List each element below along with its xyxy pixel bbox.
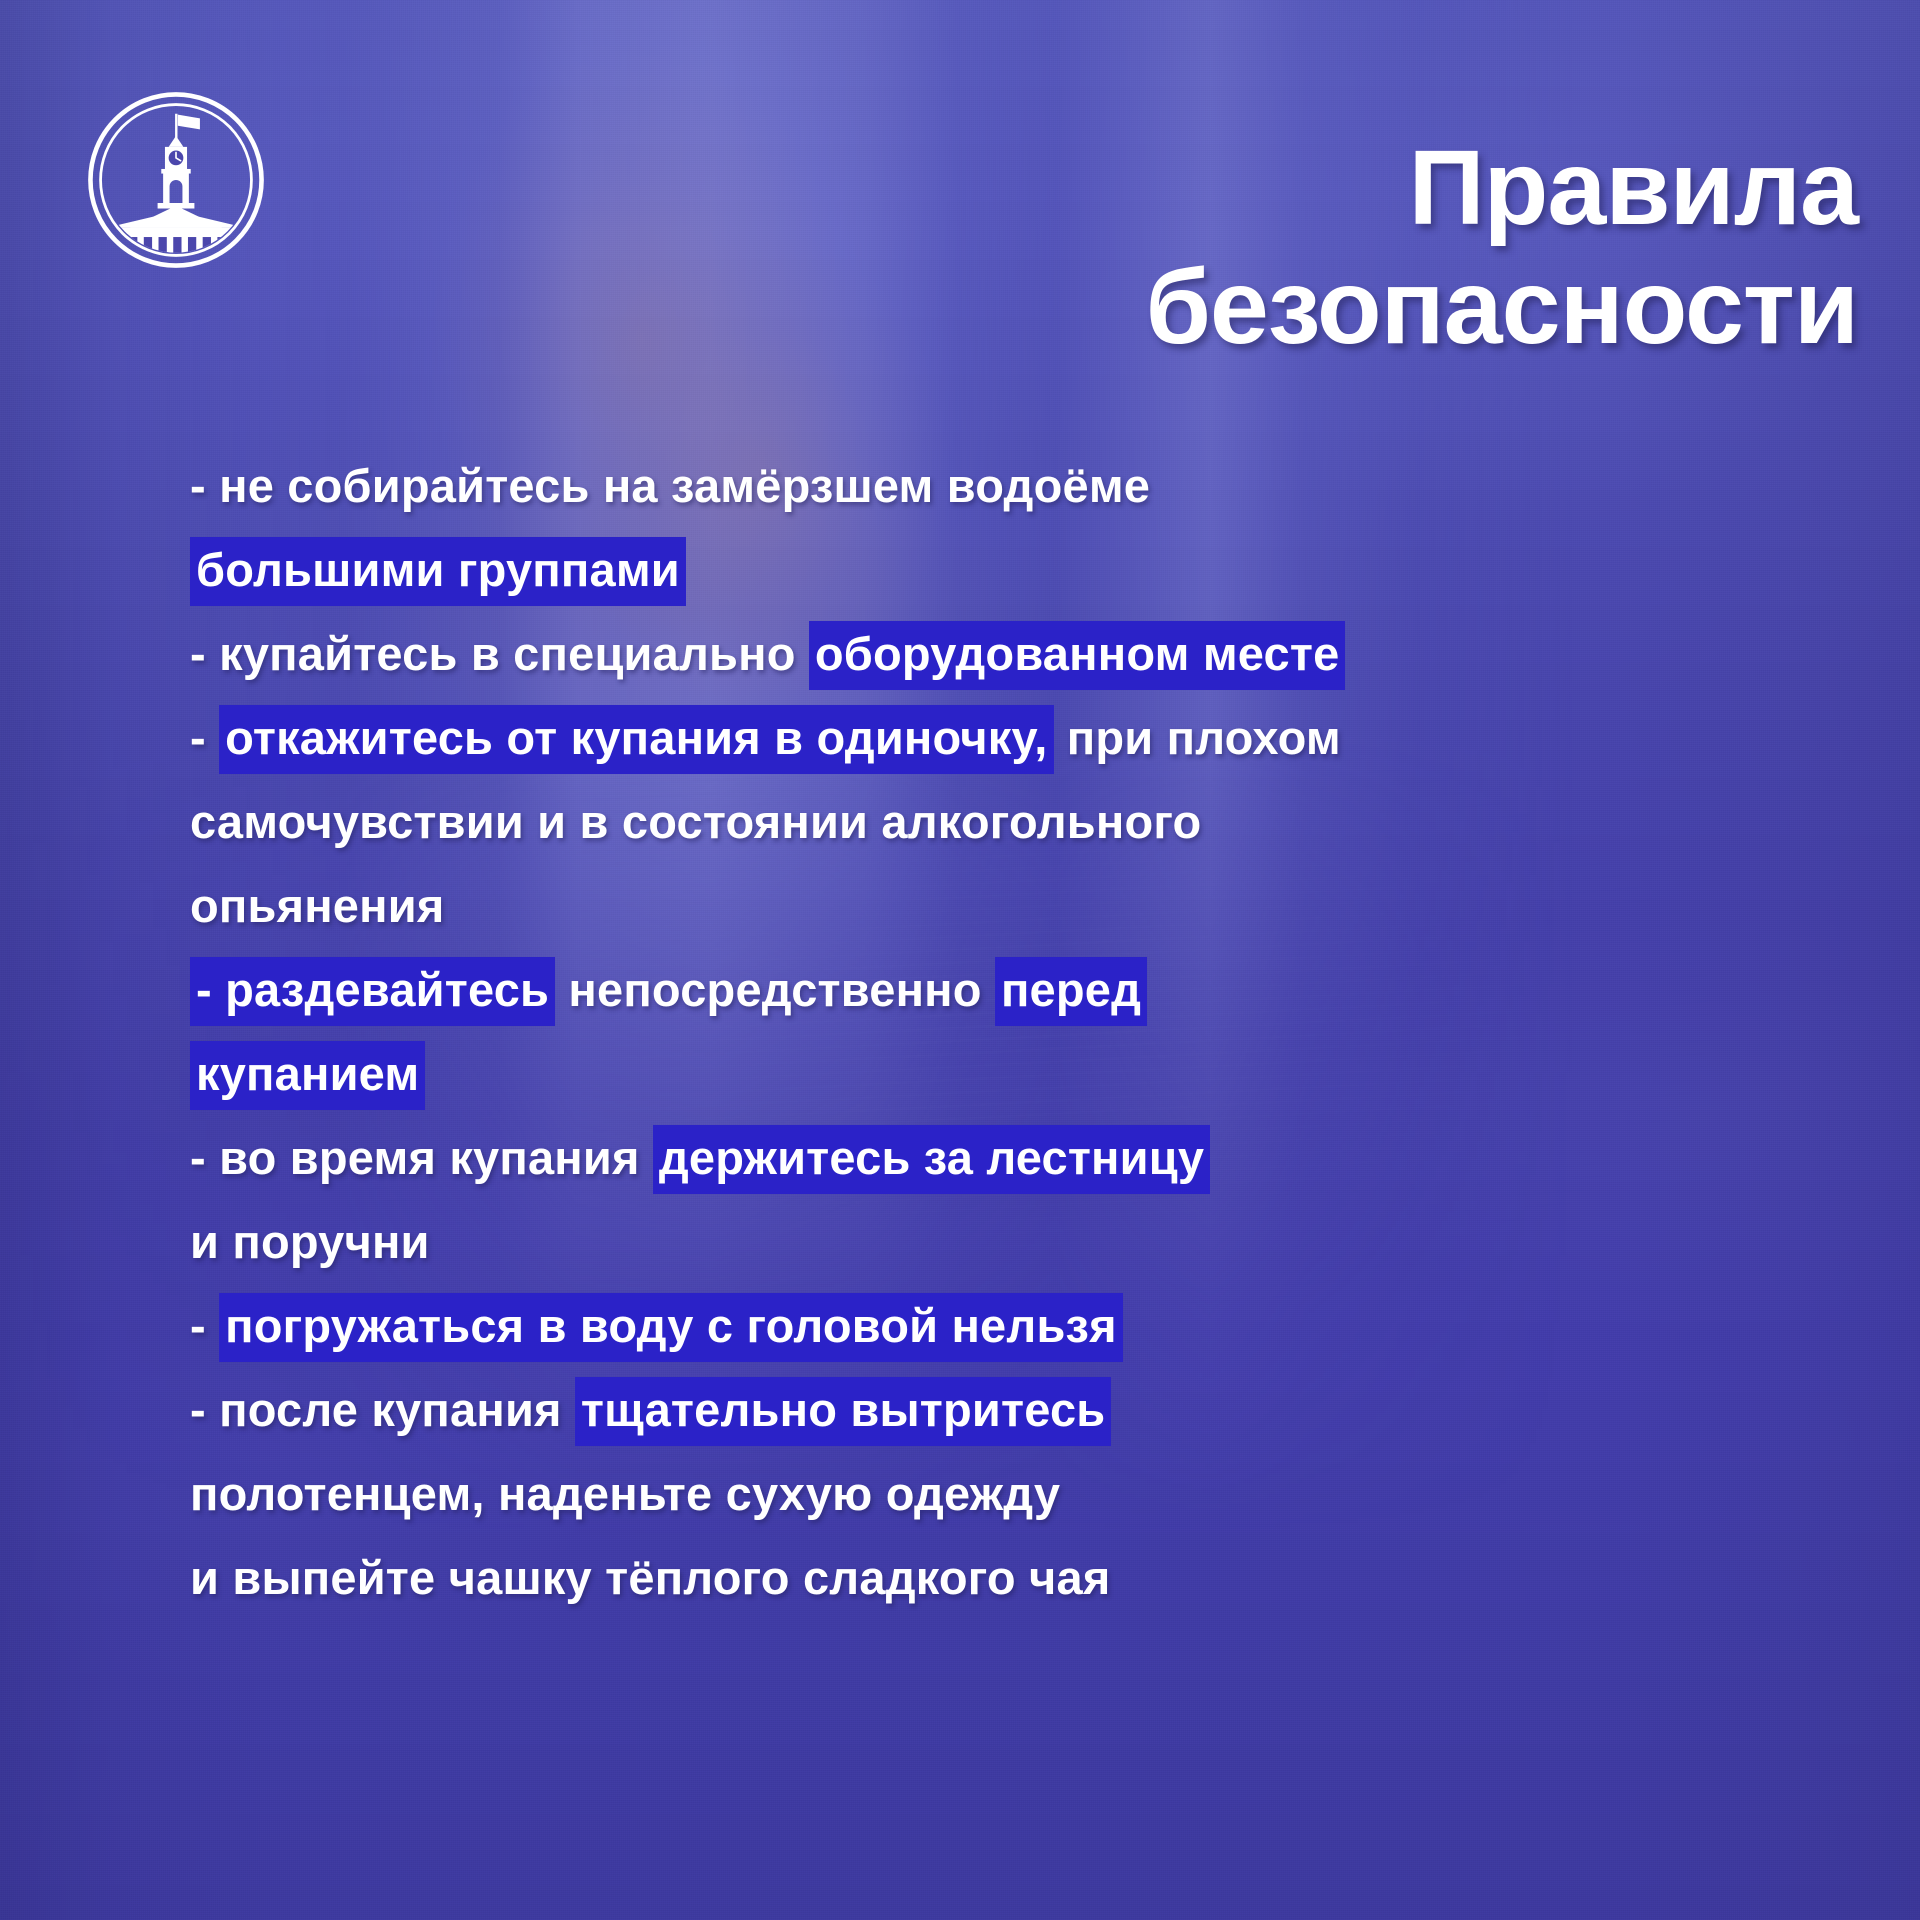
rule-line: - погружаться в воду с головой нельзя (190, 1284, 1890, 1368)
rule-line: - раздевайтесь непосредственно перед (190, 948, 1890, 1032)
rule-line: большими группами (190, 528, 1890, 612)
safety-rules-list: - не собирайтесь на замёрзшем водоёмебол… (190, 444, 1890, 1620)
rule-line: купанием (190, 1032, 1890, 1116)
title-line-1: Правила (1145, 129, 1858, 248)
rule-line: - не собирайтесь на замёрзшем водоёме (190, 444, 1890, 528)
city-emblem-logo (84, 88, 268, 272)
rule-text-highlighted: держитесь за лестницу (653, 1125, 1210, 1194)
page-title: Правила безопасности (1145, 129, 1858, 366)
rule-text-highlighted: погружаться в воду с головой нельзя (219, 1293, 1123, 1362)
rule-text: непосредственно (555, 957, 995, 1026)
rule-text: полотенцем, наденьте сухую одежду (190, 1461, 1060, 1530)
rule-text-highlighted: оборудованном месте (809, 621, 1346, 690)
rule-line: - купайтесь в специально оборудованном м… (190, 612, 1890, 696)
rule-text-highlighted: тщательно вытритесь (575, 1377, 1111, 1446)
rule-text: - (190, 705, 219, 774)
rule-text: и поручни (190, 1209, 430, 1278)
rule-line: - после купания тщательно вытритесь (190, 1368, 1890, 1452)
rule-text: - купайтесь в специально (190, 621, 809, 690)
rule-line: и поручни (190, 1200, 1890, 1284)
rule-text: - после купания (190, 1377, 575, 1446)
rule-text-highlighted: купанием (190, 1041, 425, 1110)
rule-text: - во время купания (190, 1125, 653, 1194)
rule-text: - не собирайтесь на замёрзшем водоёме (190, 453, 1150, 522)
rule-line: опьянения (190, 864, 1890, 948)
rule-text: и выпейте чашку тёплого сладкого чая (190, 1545, 1111, 1614)
rule-text-highlighted: перед (995, 957, 1147, 1026)
rule-line: полотенцем, наденьте сухую одежду (190, 1452, 1890, 1536)
rule-line: - откажитесь от купания в одиночку, при … (190, 696, 1890, 780)
rule-line: самочувствии и в состоянии алкогольного (190, 780, 1890, 864)
rule-text: - (190, 1293, 219, 1362)
rule-line: - во время купания держитесь за лестницу (190, 1116, 1890, 1200)
rule-text-highlighted: большими группами (190, 537, 686, 606)
rule-line: и выпейте чашку тёплого сладкого чая (190, 1536, 1890, 1620)
rule-text: опьянения (190, 873, 444, 942)
rule-text: при плохом (1054, 705, 1341, 774)
safety-rules-poster: Правила безопасности - не собирайтесь на… (0, 0, 1920, 1920)
rule-text-highlighted: откажитесь от купания в одиночку, (219, 705, 1053, 774)
title-line-2: безопасности (1145, 248, 1858, 367)
rule-text-highlighted: - раздевайтесь (190, 957, 555, 1026)
rule-text: самочувствии и в состоянии алкогольного (190, 789, 1201, 858)
